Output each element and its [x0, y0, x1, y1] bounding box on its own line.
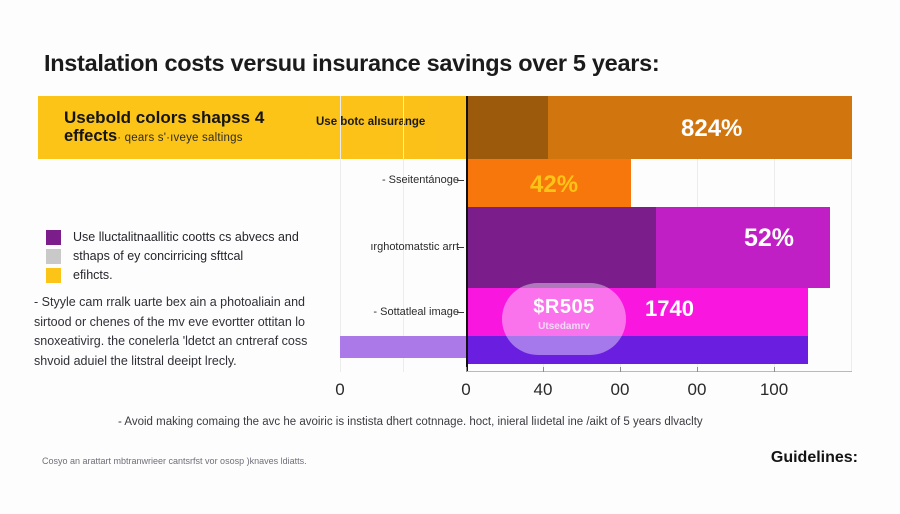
bar-underlay-negative — [340, 336, 466, 358]
xtick-mark — [620, 367, 621, 372]
ytick-label-2: - Sseitentánoge — [382, 174, 459, 186]
bar-label-3: 52% — [744, 224, 794, 253]
xtick-label-4: 00 — [688, 380, 707, 400]
callout-pill-value: $R505 — [502, 296, 626, 319]
infographic-canvas: Instalation costs versuu insurance savin… — [0, 0, 900, 514]
header-band-subtitle-thin: · qears s'·ıveye saltings — [117, 132, 242, 144]
legend-swatch-purple — [46, 230, 61, 245]
bar-label-1: 824% — [681, 115, 742, 143]
legend-swatch-gray — [46, 249, 61, 264]
xtick-mark — [543, 367, 544, 372]
xtick-mark — [466, 367, 467, 372]
x-axis-line — [466, 371, 852, 372]
legend-item: sthaps of ey concirricing sfttcal — [46, 247, 326, 266]
header-band-subtitle: effects· qears s'·ıveye saltings — [64, 127, 243, 146]
ytick-label-3: ırghotomatstic arrt — [370, 241, 459, 253]
xtick-label-3: 00 — [611, 380, 630, 400]
guidelines-label: Guidelines: — [771, 449, 858, 467]
xtick-label-1: 0 — [461, 380, 470, 400]
ytick-dash — [457, 180, 464, 181]
ytick-dash — [457, 247, 464, 248]
legend-item: Use lluctalitnaallitic cootts cs abvecs … — [46, 228, 326, 247]
footer-fineprint: Cosyo an arattart mbtranwrieer cantsrfst… — [42, 456, 562, 466]
header-band-title: Usebold colors shapss 4 — [64, 108, 264, 127]
bar-series-3-overlay — [466, 207, 656, 288]
header-band-subtitle-bold: effects — [64, 127, 117, 145]
footer-note: - Avoid making comaing the avc he avoiri… — [118, 416, 878, 428]
y-axis-line — [466, 96, 468, 372]
bar-label-2: 42% — [530, 171, 578, 199]
ytick-label-4: - Sottatleal image — [373, 306, 459, 318]
xtick-label-0: 0 — [335, 380, 344, 400]
callout-side-value: 1740 — [645, 296, 694, 322]
gridline — [340, 96, 341, 372]
page-title: Instalation costs versuu insurance savin… — [44, 50, 844, 77]
chart-legend: Use lluctalitnaallitic cootts cs abvecs … — [46, 228, 326, 285]
legend-item: efihcts. — [46, 266, 326, 285]
callout-pill: $R505 Utsedamrv — [502, 283, 626, 355]
xtick-mark — [697, 367, 698, 372]
legend-label: efihcts. — [73, 266, 113, 284]
body-note: - Styyle cam rralk uarte bex ain a photo… — [34, 293, 334, 371]
xtick-mark — [774, 367, 775, 372]
legend-label: sthaps of ey concirricing sfttcal — [73, 247, 243, 265]
bar-series-1-overlay — [466, 96, 548, 159]
gridline — [403, 96, 404, 372]
ytick-dash — [457, 312, 464, 313]
legend-swatch-yellow — [46, 268, 61, 283]
xtick-label-5: 100 — [760, 380, 788, 400]
callout-pill-subtitle: Utsedamrv — [502, 321, 626, 332]
legend-label: Use lluctalitnaallitic cootts cs abvecs … — [73, 228, 299, 246]
xtick-label-2: 40 — [534, 380, 553, 400]
